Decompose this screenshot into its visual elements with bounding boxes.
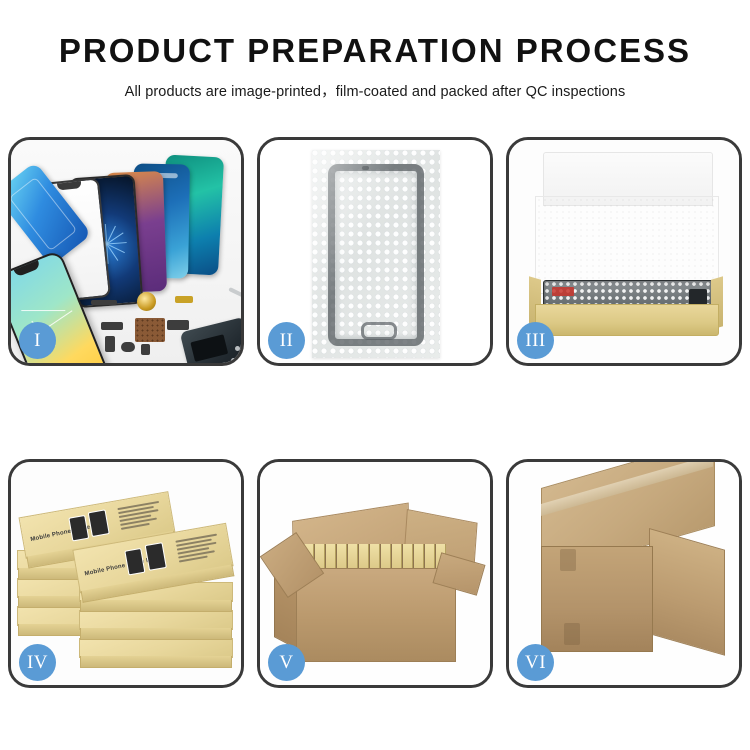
box-front (535, 304, 719, 336)
spare-parts-group (85, 290, 241, 363)
chip-array-icon (135, 318, 165, 342)
screw-icon (235, 346, 240, 351)
stacked-box (79, 610, 233, 630)
stacked-box (79, 638, 233, 658)
step-badge-3: III (517, 322, 554, 359)
plastic-sheen (312, 150, 440, 358)
step-panel-5: V (257, 459, 493, 688)
step-badge-2: II (268, 322, 305, 359)
screw-icon (231, 358, 236, 363)
part-flex-icon (105, 336, 115, 352)
step-badge-6: VI (517, 644, 554, 681)
steps-grid: I II (8, 137, 742, 688)
sealed-carton-icon (531, 488, 723, 664)
part-camera-icon (141, 344, 150, 355)
open-kraft-box-icon (527, 152, 725, 352)
open-carton-icon (274, 486, 480, 670)
part-strip-icon (91, 300, 117, 305)
step-badge-4: IV (19, 644, 56, 681)
header: PRODUCT PREPARATION PROCESS All products… (0, 0, 750, 101)
product-preparation-infographic: PRODUCT PREPARATION PROCESS All products… (0, 0, 750, 750)
box-stack-icon: Mobile Phone Spare Parts Mobile Phone Sp… (17, 478, 241, 678)
speaker-coil-icon (137, 292, 156, 311)
tweezer-icon (228, 287, 241, 309)
part-bracket-icon (101, 322, 123, 330)
part-cable-icon (167, 320, 189, 330)
part-connector-icon (175, 296, 193, 303)
step-panel-1: I (8, 137, 244, 366)
carton-front-face (541, 546, 653, 652)
page-subtitle: All products are image-printed，film-coat… (0, 80, 750, 101)
step-badge-5: V (268, 644, 305, 681)
page-title: PRODUCT PREPARATION PROCESS (0, 34, 750, 67)
bubble-wrap-icon (312, 150, 440, 358)
part-vibrator-icon (121, 342, 135, 352)
step-badge-1: I (19, 322, 56, 359)
step-panel-3: III (506, 137, 742, 366)
step-panel-4: Mobile Phone Spare Parts Mobile Phone Sp… (8, 459, 244, 688)
step-panel-2: II (257, 137, 493, 366)
carton-side-face (649, 528, 725, 656)
step-panel-6: VI (506, 459, 742, 688)
